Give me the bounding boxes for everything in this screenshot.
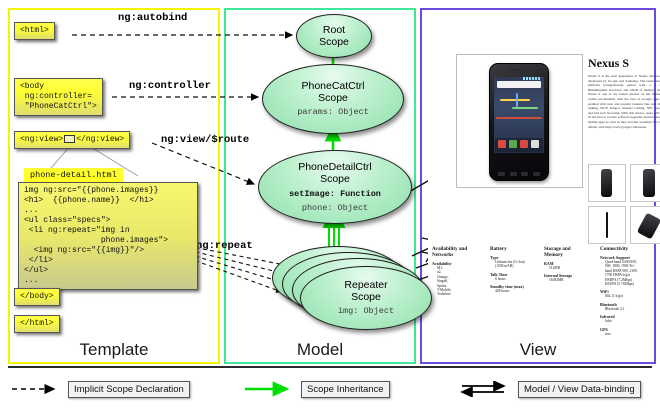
spec-column-storage: Storage and Memory RAM 512MB Internal St… <box>544 246 596 283</box>
root-scope: RootScope <box>296 14 372 58</box>
legend-item-scope-inheritance: Scope Inheritance <box>243 380 390 398</box>
ng-view-slot-icon <box>64 135 75 143</box>
phonedetailctrl-scope: PhoneDetailCtrlScope setImage: Function … <box>258 150 412 224</box>
legend-label-model-view-data-binding: Model / View Data-binding <box>518 381 641 398</box>
product-title: Nexus S <box>588 56 629 71</box>
code-box-ng-view: <ng:view></ng:view> <box>14 131 130 149</box>
spec-value-infrared: false <box>605 319 648 323</box>
spec-heading-availability: Availability and Networks <box>432 246 478 258</box>
spec-column-connectivity: Connectivity Network Support Quad-band G… <box>600 246 648 336</box>
phone-app-icon-2 <box>509 140 517 148</box>
spec-heading-battery: Battery <box>490 246 536 252</box>
spec-value-battery-type-1: (1500 mAH) <box>495 264 536 268</box>
arrow-ng-view-route <box>152 143 254 184</box>
ng-view-open-tag: <ng:view> <box>20 135 63 144</box>
spec-value-gps: true <box>605 332 648 336</box>
phone-search-widget <box>497 81 541 88</box>
spec-heading-connectivity: Connectivity <box>600 246 646 252</box>
phonedetailctrl-scope-prop-phone: phone: Object <box>302 203 368 214</box>
phonedetailctrl-scope-prop-setimage: setImage: Function <box>289 189 381 200</box>
repeater-scope: RepeaterScope img: Object <box>300 266 432 330</box>
phone-app-icon-4 <box>531 140 539 148</box>
view-rendered-page: Nexus S Nexus S is the next generation o… <box>428 16 644 334</box>
code-box-html-close: </html> <box>14 315 60 333</box>
legend-item-implicit-scope-declaration: Implicit Scope Declaration <box>10 380 190 398</box>
arrow-ng-repeat-4 <box>188 258 282 292</box>
thumbnail-edge[interactable] <box>588 206 626 244</box>
spec-table: Availability and Networks Availability M… <box>432 246 644 316</box>
thumbnail-angle[interactable] <box>630 206 660 244</box>
root-scope-title-2: Scope <box>319 36 349 48</box>
code-box-phone-detail: img ng:src="{{phone.images}} <h1> {{phon… <box>18 182 198 290</box>
legend-label-scope-inheritance: Scope Inheritance <box>301 381 390 398</box>
spec-column-battery: Battery Type Lithium Ion (Li-Ion) (1500 … <box>490 246 536 294</box>
phone-wallpaper-line-2 <box>512 107 538 109</box>
thumbnail-front[interactable] <box>588 164 626 202</box>
spec-value-internal-storage: 16384MB <box>549 278 596 282</box>
label-ng-controller: ng:controller <box>129 80 211 92</box>
phone-screen <box>494 77 544 153</box>
label-ng-repeat: ng:repeat <box>196 240 253 252</box>
code-box-body-open: <body ng:controller= "PhoneCatCtrl"> <box>14 78 103 116</box>
product-description: Nexus S is the next generation of Nexus … <box>588 74 660 129</box>
code-box-html-open: <html> <box>14 22 55 40</box>
code-box-phone-detail-title: phone-detail.html <box>24 168 123 182</box>
label-ng-view-route: ng:view/$route <box>161 134 249 146</box>
repeater-scope-title-1: Repeater <box>344 279 387 291</box>
legend-dashed-arrow-icon <box>10 381 62 397</box>
phonedetailctrl-scope-title-2: Scope <box>320 173 350 185</box>
phone-status-bar <box>523 77 541 80</box>
label-ng-autobind: ng:autobind <box>118 12 187 24</box>
spec-value-ram: 512MB <box>549 266 596 270</box>
phonecatctrl-scope: PhoneCatCtrlScope params: Object <box>262 64 404 134</box>
thumbnail-back-image <box>643 169 655 197</box>
spec-value-wifi: 802.11 b/g/n <box>605 294 648 298</box>
legend-green-arrow-icon <box>243 381 295 397</box>
phone-app-icon-3 <box>520 140 528 148</box>
phone-nav-bar <box>496 170 542 178</box>
diagram-canvas: Template Model View <box>0 0 660 420</box>
phone-wallpaper-line-4 <box>496 117 542 119</box>
phonedetailctrl-scope-title-1: PhoneDetailCtrl <box>298 161 372 173</box>
phonecatctrl-scope-prop-params: params: Object <box>297 107 368 118</box>
spec-heading-storage: Storage and Memory <box>544 246 590 258</box>
thumbnail-edge-image <box>606 212 608 238</box>
spec-value-talk-time: 6 hours <box>495 277 536 281</box>
thumbnail-angle-image <box>637 213 660 240</box>
phone-app-icon-1 <box>498 140 506 148</box>
phone-device-illustration <box>489 63 549 181</box>
phone-hero-image-frame <box>456 54 583 188</box>
thumbnail-front-image <box>601 169 612 197</box>
spec-column-availability: Availability and Networks Availability M… <box>432 246 480 297</box>
code-box-body-close: </body> <box>14 288 60 306</box>
ng-view-close-tag: </ng:view> <box>76 135 124 144</box>
repeater-scope-prop-img: img: Object <box>338 306 394 317</box>
phonecatctrl-scope-title-1: PhoneCatCtrl <box>301 80 364 92</box>
legend-label-implicit-scope-declaration: Implicit Scope Declaration <box>68 381 190 398</box>
spec-value-standby: 428 hours <box>495 289 536 293</box>
spec-value-availability-6: Vodafone <box>437 292 480 296</box>
spec-value-bluetooth: Bluetooth 2.1 <box>605 307 648 311</box>
phone-wallpaper-line-1 <box>500 99 530 101</box>
phone-wallpaper-line-3 <box>516 93 518 107</box>
legend-divider <box>8 366 652 368</box>
spec-value-network-5: HSUPA (5.76Mbps) <box>605 282 648 286</box>
phone-speaker <box>510 69 528 71</box>
repeater-scope-title-2: Scope <box>351 291 381 303</box>
thumbnail-back[interactable] <box>630 164 660 202</box>
phonecatctrl-scope-title-2: Scope <box>318 92 348 104</box>
legend-item-model-view-data-binding: Model / View Data-binding <box>460 380 641 398</box>
phone-app-dock <box>495 138 543 152</box>
root-scope-title-1: Root <box>323 24 345 36</box>
legend-double-arrow-icon <box>460 381 512 397</box>
